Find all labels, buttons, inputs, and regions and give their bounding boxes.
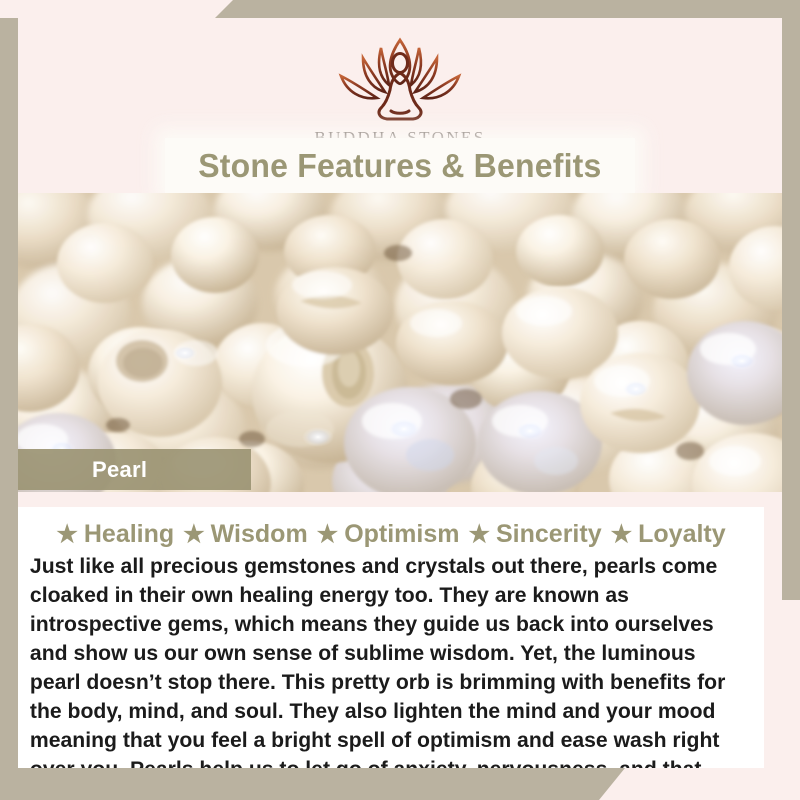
- benefit-item-optimism: ★ Optimism: [317, 520, 460, 549]
- star-icon: ★: [468, 523, 490, 547]
- benefit-label: Sincerity: [496, 520, 602, 549]
- content-card: ★ Healing ★ Wisdom ★ Optimism ★ Sincerit…: [18, 507, 764, 768]
- page-surface: BUDDHA STONES Stone Features & Benefits: [18, 18, 782, 768]
- pearl-photo: Pearl: [18, 193, 782, 492]
- stone-label-bar: Pearl: [18, 449, 251, 490]
- star-icon: ★: [317, 523, 339, 547]
- description-paragraph: Just like all precious gemstones and cry…: [24, 552, 747, 768]
- frame-top-band: [215, 0, 800, 18]
- title-panel: Stone Features & Benefits: [165, 138, 635, 193]
- benefits-list: ★ Healing ★ Wisdom ★ Optimism ★ Sincerit…: [24, 517, 758, 551]
- benefit-label: Optimism: [344, 520, 459, 549]
- benefit-item-wisdom: ★ Wisdom: [183, 520, 308, 549]
- pearl-photo-image: [18, 193, 782, 492]
- page-title: Stone Features & Benefits: [198, 147, 601, 185]
- star-icon: ★: [611, 523, 633, 547]
- stone-name: Pearl: [92, 457, 147, 483]
- lotus-meditation-icon: [325, 32, 475, 124]
- frame-bottom-band: [0, 768, 625, 800]
- benefit-item-sincerity: ★ Sincerity: [468, 520, 601, 549]
- benefit-label: Wisdom: [211, 520, 308, 549]
- star-icon: ★: [183, 523, 205, 547]
- benefit-item-healing: ★ Healing: [56, 520, 174, 549]
- benefit-label: Healing: [84, 520, 174, 549]
- benefit-label: Loyalty: [638, 520, 726, 549]
- frame-right-band: [782, 18, 800, 600]
- frame-left-band: [0, 18, 18, 800]
- infographic-page: BUDDHA STONES Stone Features & Benefits: [0, 0, 800, 800]
- star-icon: ★: [56, 523, 78, 547]
- benefit-item-loyalty: ★ Loyalty: [611, 520, 726, 549]
